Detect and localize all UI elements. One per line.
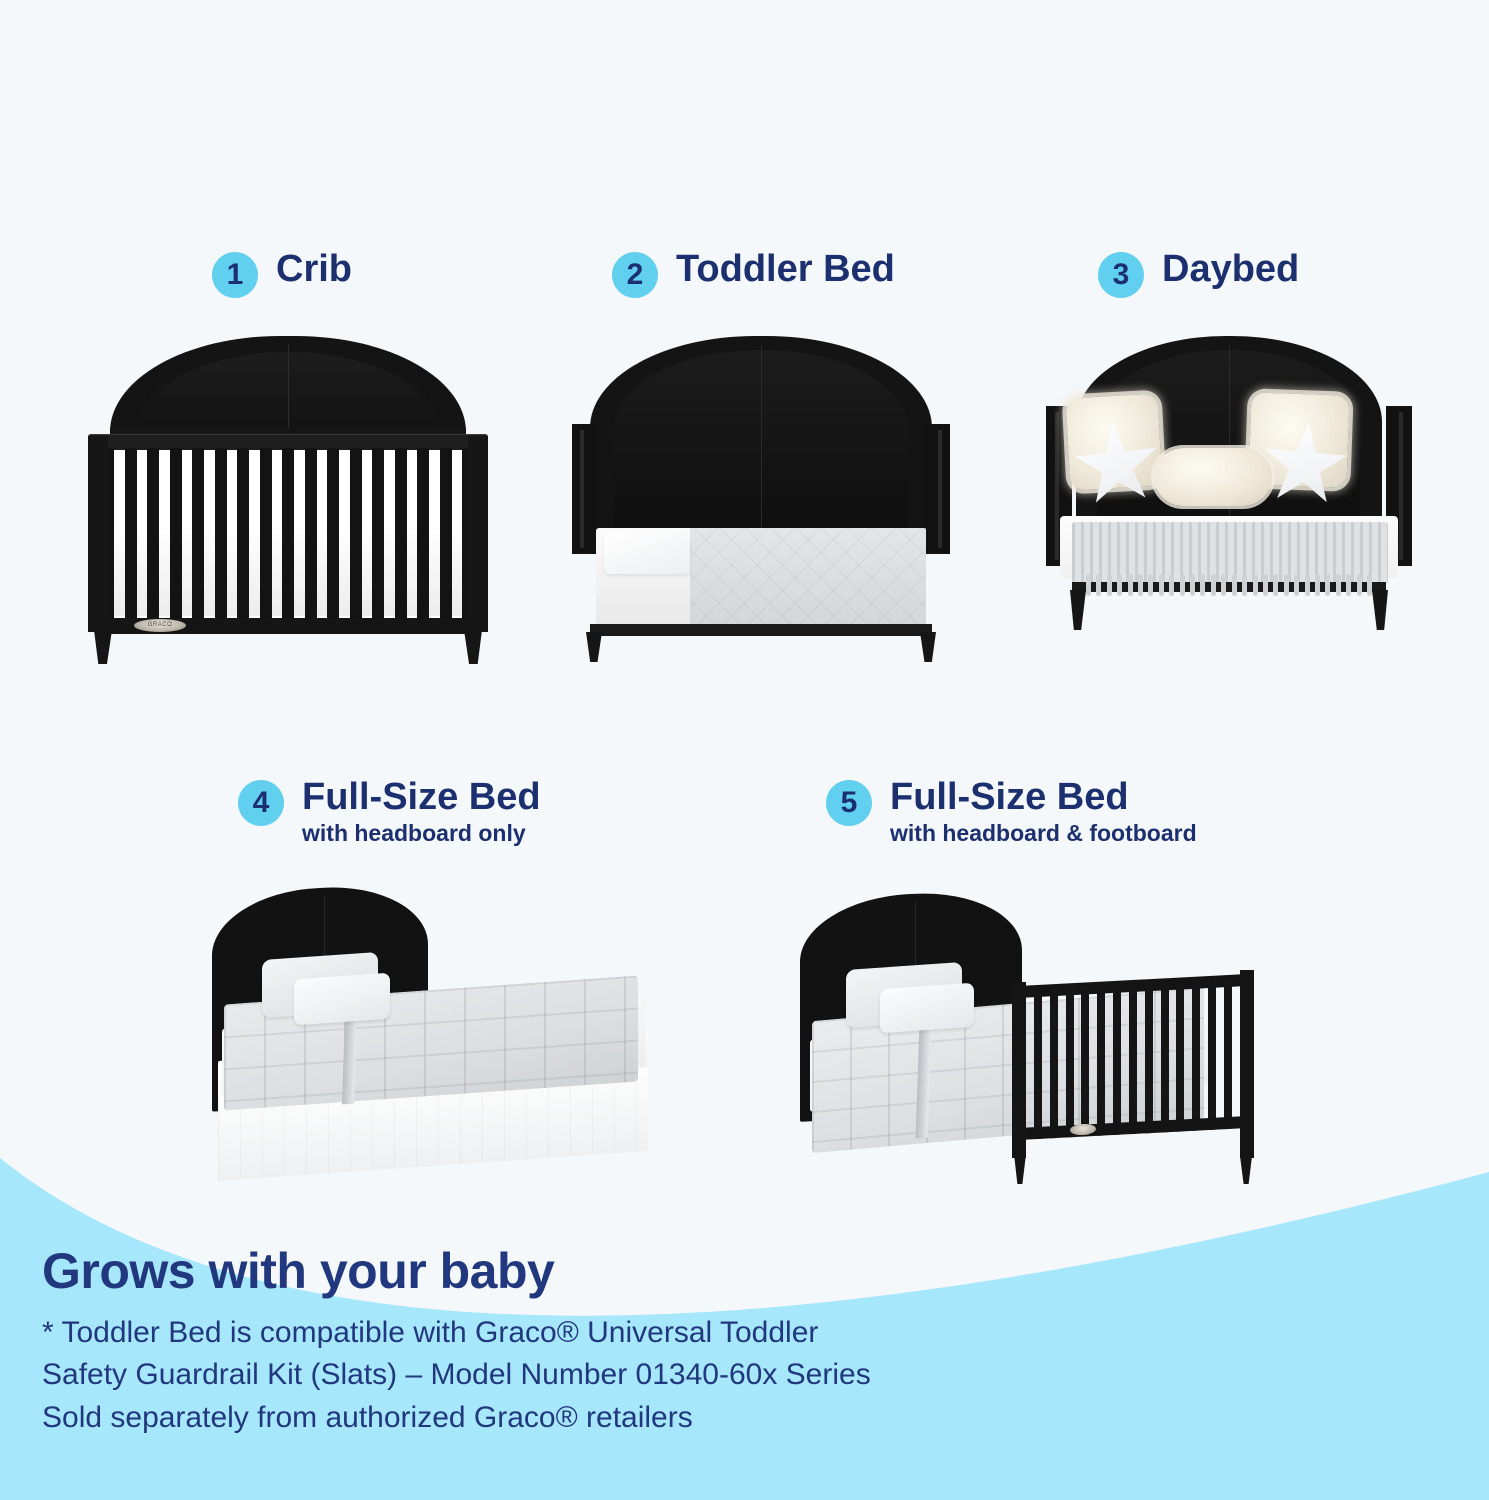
full-size-bed-headboard-illustration bbox=[196, 886, 696, 1171]
step-label-1: 1 Crib bbox=[212, 250, 352, 298]
step-text-4: Full-Size Bed with headboard only bbox=[302, 778, 541, 846]
full-bed-5-pillow-front bbox=[880, 983, 974, 1034]
toddler-bed-side-left bbox=[572, 424, 598, 554]
toddler-bed-leg-left bbox=[586, 632, 602, 662]
step-text-2: Toddler Bed bbox=[676, 250, 895, 288]
step-title-5: Full-Size Bed bbox=[890, 778, 1197, 816]
toddler-bed-headboard bbox=[590, 336, 932, 536]
toddler-bed-headboard-panel bbox=[614, 350, 908, 530]
step-label-4: 4 Full-Size Bed with headboard only bbox=[238, 778, 541, 846]
footboard-post-right bbox=[1240, 970, 1254, 1158]
step-text-5: Full-Size Bed with headboard & footboard bbox=[890, 778, 1197, 846]
toddler-bed-base-rail bbox=[590, 624, 932, 636]
crib-post-left bbox=[88, 436, 108, 632]
headline: Grows with your baby bbox=[42, 1245, 1242, 1298]
step-label-2: 2 Toddler Bed bbox=[612, 250, 895, 298]
step-badge-5: 5 bbox=[826, 780, 872, 826]
footboard-slats bbox=[1018, 978, 1248, 1140]
crib-leg-left bbox=[94, 630, 112, 664]
toddler-bed-quilt bbox=[690, 528, 926, 626]
footboard-leg-right bbox=[1240, 1156, 1252, 1184]
step-text-1: Crib bbox=[276, 250, 352, 288]
step-badge-4: 4 bbox=[238, 780, 284, 826]
graco-logo-plate: GRACO bbox=[134, 619, 186, 632]
full-size-bed-headboard-footboard-illustration bbox=[786, 886, 1286, 1186]
full-bed-4-pillow-front bbox=[294, 973, 390, 1026]
toddler-bed-leg-right bbox=[920, 632, 936, 662]
daybed-leg-left bbox=[1070, 590, 1086, 630]
step-text-3: Daybed bbox=[1162, 250, 1299, 288]
crib-slats bbox=[102, 448, 474, 620]
step-subtitle-4: with headboard only bbox=[302, 821, 541, 846]
footnote-line-3: Sold separately from authorized Graco® r… bbox=[42, 1397, 1242, 1440]
step-label-3: 3 Daybed bbox=[1098, 250, 1299, 298]
step-title-3: Daybed bbox=[1162, 250, 1299, 288]
bottom-copy-block: Grows with your baby * Toddler Bed is co… bbox=[42, 1245, 1242, 1439]
infographic-page: 1 Crib 2 Toddler Bed 3 Daybed 4 Full-Siz… bbox=[0, 0, 1489, 1500]
step-badge-3: 3 bbox=[1098, 252, 1144, 298]
step-badge-2: 2 bbox=[612, 252, 658, 298]
step-badge-1: 1 bbox=[212, 252, 258, 298]
crib-illustration: GRACO bbox=[88, 336, 488, 661]
toddler-bed-illustration bbox=[572, 336, 950, 661]
step-title-1: Crib bbox=[276, 250, 352, 288]
step-label-5: 5 Full-Size Bed with headboard & footboa… bbox=[826, 778, 1197, 846]
crib-post-right bbox=[468, 436, 488, 632]
step-subtitle-5: with headboard & footboard bbox=[890, 821, 1197, 846]
footnote-line-2: Safety Guardrail Kit (Slats) – Model Num… bbox=[42, 1354, 1242, 1397]
daybed-illustration bbox=[1046, 336, 1412, 661]
footboard-leg-left bbox=[1014, 1154, 1026, 1184]
crib-leg-right bbox=[464, 630, 482, 664]
full-bed-5-footboard bbox=[1012, 974, 1254, 1174]
daybed-leg-right bbox=[1372, 590, 1388, 630]
step-title-4: Full-Size Bed bbox=[302, 778, 541, 816]
footboard-post-left bbox=[1012, 982, 1026, 1158]
footnote-block: * Toddler Bed is compatible with Graco® … bbox=[42, 1312, 1242, 1440]
footnote-line-1: * Toddler Bed is compatible with Graco® … bbox=[42, 1312, 1242, 1355]
toddler-bed-pillow bbox=[604, 532, 690, 574]
toddler-bed-side-right bbox=[924, 424, 950, 554]
daybed-fur-bolster bbox=[1154, 448, 1272, 506]
step-title-2: Toddler Bed bbox=[676, 250, 895, 288]
daybed-pom-pom-trim bbox=[1086, 574, 1372, 596]
